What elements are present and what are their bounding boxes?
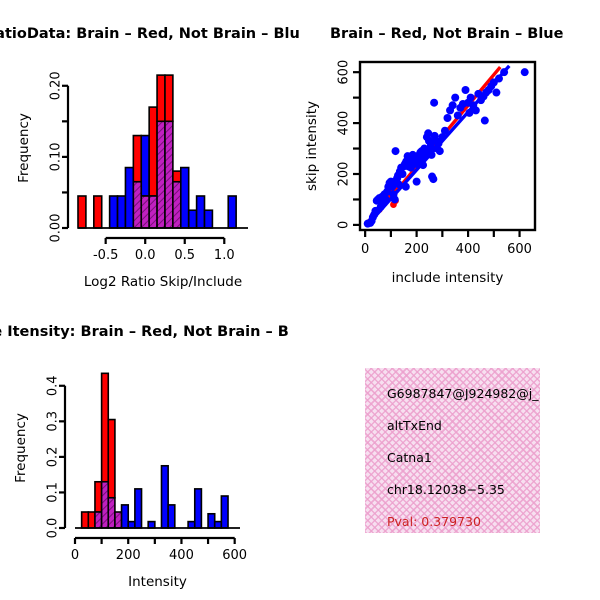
hist-bar [88,512,95,528]
scatter-point-blue [402,183,410,191]
hist-ratio-svg: 0.000.100.20-0.50.00.51.0Log2 Ratio Skip… [0,50,300,300]
hist-bar-top [108,420,115,498]
scatter-point-blue [382,195,390,203]
x-tick-label: 0 [361,242,369,257]
hist-bar [135,489,142,528]
scatter-point-blue [430,99,438,107]
hist-bar-top [141,136,149,196]
y-axis-title: Frequency [13,413,29,483]
scatter-point-blue [391,195,399,203]
scatter-plot: 02004006000200400600include intensityski… [300,50,600,300]
scatter-point-blue [419,161,427,169]
scatter-point-blue [492,89,500,97]
hist-bar [195,489,202,528]
gene-info-panel: G6987847@J924982@j_ altTxEnd Catna1 chr1… [365,368,540,533]
gene-pval: Pval: 0.379730 [387,514,540,529]
gene-event-type: altTxEnd [387,418,540,433]
hist-bar-top [133,136,141,182]
scatter-title: Brain – Red, Not Brain – Blue [330,26,563,42]
gene-info-lines: G6987847@J924982@j_ altTxEnd Catna1 chr1… [365,368,540,533]
hist-bar [221,496,228,528]
hist-bar-top [95,482,102,512]
scatter-point-blue [462,86,470,94]
y-tick-label: 600 [337,60,352,85]
y-tick-label: 0.4 [46,375,61,396]
x-tick-label: 0.5 [174,248,195,263]
hist-bar [122,505,129,528]
y-tick-label: 200 [337,162,352,187]
hist-bar [78,196,86,228]
hist-bar [82,512,89,528]
y-tick-label: 0.20 [49,71,64,100]
hist-intensity-svg: 0.00.10.20.30.40200400600IntensityFreque… [0,350,300,600]
y-tick-label: 0.2 [46,447,61,468]
x-tick-label: -0.5 [93,248,118,263]
gene-symbol: Catna1 [387,450,540,465]
scatter-point-blue [467,94,475,102]
hist-bar [188,522,195,528]
scatter-point-blue [398,170,406,178]
hist-bar [228,196,236,228]
x-axis-title: Log2 Ratio Skip/Include [84,274,242,290]
scatter-svg: 02004006000200400600include intensityski… [300,50,600,300]
x-tick-label: 400 [169,548,194,563]
hist-bar-overlap [165,121,173,228]
x-tick-label: 600 [222,548,247,563]
scatter-point-blue [454,111,462,119]
scatter-point-blue [392,147,400,155]
hist-bar [128,522,135,528]
hist-bar [118,196,126,228]
gene-locus: chr18.12038−5.35 [387,482,540,497]
y-tick-label: 0.3 [46,411,61,432]
hist-bar-overlap [115,512,122,528]
hist-bar-top [165,75,173,121]
hist-bar [161,466,168,528]
scatter-point-blue [449,101,457,109]
hist-intensity-plot: 0.00.10.20.30.40200400600IntensityFreque… [0,350,300,600]
hist-bar [208,514,215,528]
x-tick-label: 0 [71,548,79,563]
scatter-point-blue [495,75,503,83]
scatter-point-blue [436,147,444,155]
scatter-point-blue [521,68,529,76]
hist-bar [110,196,118,228]
y-tick-label: 400 [337,111,352,136]
hist-bar-overlap [133,182,141,228]
scatter-point-blue [500,68,508,76]
scatter-point-blue [441,127,449,135]
x-tick-label: 200 [116,548,141,563]
hist-bar-overlap [173,182,181,228]
hist-ratio-plot: 0.000.100.20-0.50.00.51.0Log2 Ratio Skip… [0,50,300,300]
gene-event-id: G6987847@J924982@j_ [387,386,540,401]
x-axis-title: Intensity [128,574,187,590]
y-tick-label: 0.10 [49,142,64,171]
hist-bar [168,505,175,528]
hist-bar [197,196,205,228]
scatter-point-blue [451,94,459,102]
scatter-point-blue [472,106,480,114]
hist-ratio-title: RatioData: Brain – Red, Not Brain – Blu [0,26,300,42]
scatter-point-blue [395,180,403,188]
hist-intensity-title: ne Itensity: Brain – Red, Not Brain – B [0,324,289,340]
x-tick-label: 400 [456,242,481,257]
hist-bar [205,210,213,228]
hist-bar-overlap [108,498,115,528]
x-axis-title: include intensity [392,270,504,286]
hist-bar [189,210,197,228]
x-tick-label: 600 [507,242,532,257]
y-tick-label: 0 [337,221,352,229]
hist-bar [148,522,155,528]
y-tick-label: 0.00 [49,214,64,243]
scatter-point-blue [428,151,436,159]
hist-bar-top [149,107,157,196]
hist-bar-overlap [141,196,149,228]
x-tick-label: 0.0 [135,248,156,263]
hist-bar-overlap [149,196,157,228]
scatter-point-blue [429,175,437,183]
hist-bar-overlap [157,121,165,228]
y-axis-title: skip intensity [304,101,320,191]
y-tick-label: 0.1 [46,482,61,503]
hist-bar-top [157,75,165,121]
hist-bar [94,196,102,228]
hist-bar-overlap [95,512,102,528]
scatter-point-blue [481,117,489,125]
x-tick-label: 1.0 [214,248,235,263]
hist-bar-top [102,373,109,481]
y-axis-title: Frequency [16,113,32,183]
hist-bar [215,522,222,528]
x-tick-label: 200 [404,242,429,257]
hist-bar-overlap [102,482,109,528]
y-tick-label: 0.0 [46,518,61,539]
hist-bar [181,168,189,228]
scatter-point-blue [444,114,452,122]
scatter-point-blue [413,178,421,186]
hist-bar-top [173,171,181,182]
hist-bar [125,168,133,228]
